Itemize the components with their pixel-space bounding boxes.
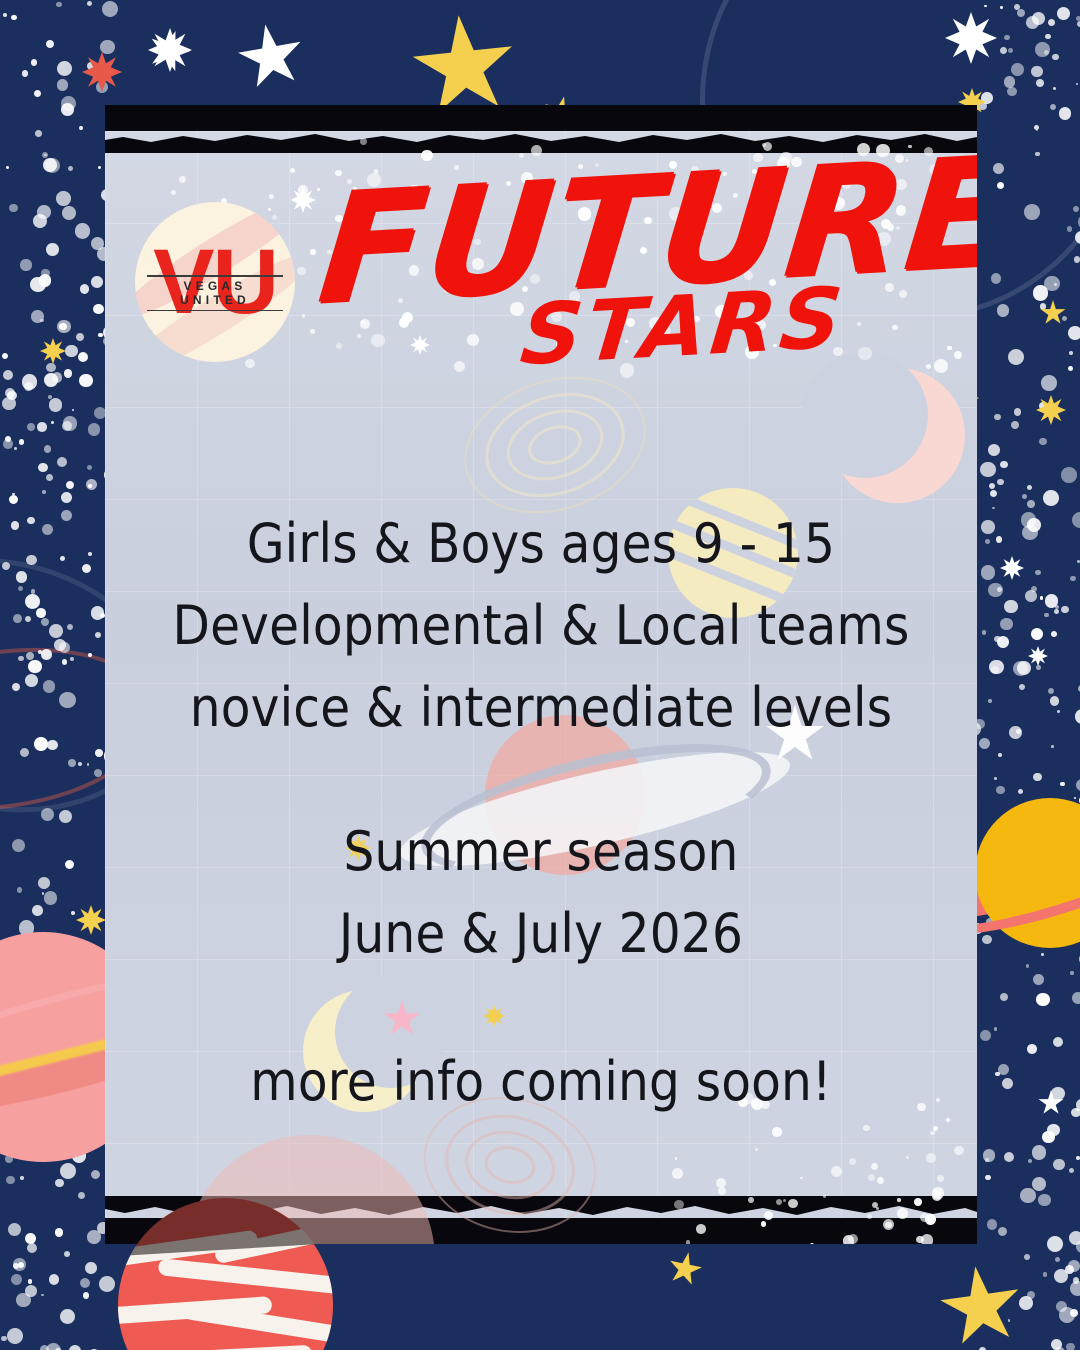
star-dot <box>66 481 74 489</box>
star-dot <box>41 1294 44 1297</box>
star-dot <box>997 636 1009 648</box>
star-dot <box>88 423 100 435</box>
star-dot <box>1027 485 1032 490</box>
star-dot <box>43 158 57 172</box>
star-dot <box>65 345 78 358</box>
star-dot <box>1039 438 1047 446</box>
star-dot <box>1062 316 1067 321</box>
star-dot <box>1036 665 1041 670</box>
detail-line: Summer season <box>105 811 977 893</box>
star-dot <box>1044 276 1059 291</box>
star-dot <box>1038 1194 1051 1207</box>
star-dot <box>83 1292 90 1299</box>
star-dot <box>88 552 92 556</box>
star-dot <box>32 905 43 916</box>
detail-block-season: Summer season June & July 2026 <box>105 811 977 975</box>
star-dot <box>987 1219 998 1230</box>
star-dot <box>1019 1296 1033 1310</box>
star-dot <box>95 749 103 757</box>
star-dot <box>980 462 996 478</box>
star-dot <box>988 583 1002 597</box>
star-dot <box>60 1309 75 1324</box>
star-dot <box>49 398 63 412</box>
star-dot <box>1017 661 1031 675</box>
star-dot <box>26 652 34 660</box>
star-dot <box>1 1336 7 1342</box>
star-dot <box>91 276 103 288</box>
star-dot <box>61 510 73 522</box>
star-dot <box>34 90 41 97</box>
star-dot <box>8 1223 21 1236</box>
poster-canvas: VU VEGAS UNITED FUTURE STARS Girls & Boy… <box>0 0 1080 1350</box>
star-dot <box>25 674 38 687</box>
star-dot <box>995 1072 1000 1077</box>
star-dot <box>1068 1260 1080 1272</box>
star-dot <box>1004 600 1018 614</box>
star-dot <box>44 891 58 905</box>
star-dot <box>9 204 17 212</box>
star-dot <box>28 1279 33 1284</box>
star-dot <box>102 1 118 17</box>
star-dot <box>1047 1236 1063 1252</box>
star-dot <box>1000 47 1007 54</box>
star-dot <box>1051 631 1057 637</box>
star-dot <box>1035 42 1050 57</box>
star-dot <box>64 1251 70 1257</box>
star-dot <box>7 391 17 401</box>
star-dot <box>982 630 987 635</box>
star-dot <box>1051 745 1054 748</box>
planet-red-striped-icon <box>118 1198 333 1350</box>
star-dot <box>1044 613 1049 618</box>
star-yellow-icon <box>76 905 106 935</box>
star-dot <box>12 839 25 852</box>
star-dot <box>1070 971 1074 975</box>
star-dot <box>1002 1078 1014 1090</box>
star-dot <box>994 1027 998 1031</box>
star-dot <box>980 1030 992 1042</box>
star-dot <box>1070 576 1076 582</box>
star-dot <box>18 586 23 591</box>
star-dot <box>1053 1159 1065 1171</box>
star-dot <box>78 352 89 363</box>
star-dot <box>979 738 990 749</box>
star-dot <box>57 457 67 467</box>
star-dot <box>1054 609 1059 614</box>
star-dot <box>59 810 72 823</box>
star-dot <box>46 243 59 256</box>
star-dot <box>983 1149 996 1162</box>
star-dot <box>1027 1044 1037 1054</box>
star-dot <box>51 421 55 425</box>
star-dot <box>42 524 53 535</box>
star-dot <box>1067 226 1073 232</box>
star-dot <box>1076 16 1080 21</box>
vegas-united-logo: VU VEGAS UNITED <box>135 202 295 362</box>
star-dot <box>1048 688 1054 694</box>
star-dot <box>36 608 45 617</box>
star-dot <box>46 363 56 373</box>
star-dot <box>1011 421 1019 429</box>
star-dot <box>997 479 1004 486</box>
star-dot <box>65 860 74 869</box>
star-dot <box>52 372 63 383</box>
star-dot <box>1073 1277 1080 1284</box>
star-dot <box>100 40 115 55</box>
star-dot <box>1000 618 1013 631</box>
star-dot <box>87 465 92 470</box>
star-dot <box>75 223 91 239</box>
star-dot <box>1043 1272 1048 1277</box>
star-dot <box>59 323 67 331</box>
star-dot <box>1070 1309 1078 1317</box>
star-dot <box>27 423 35 431</box>
star-dot <box>1066 1343 1075 1350</box>
star-dot <box>1017 9 1025 17</box>
star-dot <box>1036 79 1044 87</box>
star-dot <box>7 1328 23 1344</box>
star-dot <box>1026 964 1030 968</box>
star-dot <box>1055 1257 1060 1262</box>
star-dot <box>5 436 11 442</box>
star-dot <box>76 333 84 341</box>
star-dot <box>981 565 996 580</box>
star-dot <box>14 447 17 450</box>
star-dot <box>1025 590 1037 602</box>
star-dot <box>988 444 1000 456</box>
star-dot <box>78 1192 86 1200</box>
star-dot <box>1021 512 1037 528</box>
star-dot <box>71 911 75 915</box>
star-dot <box>79 126 83 130</box>
star-dot <box>55 1228 63 1236</box>
poster-details: Girls & Boys ages 9 - 15 Developmental &… <box>105 503 977 1123</box>
detail-block-cta: more info coming soon! <box>105 1041 977 1123</box>
star-dot <box>1020 1188 1035 1203</box>
star-dot <box>991 273 1001 283</box>
star-white-icon <box>148 28 192 72</box>
star-dot <box>996 786 1005 795</box>
star-dot <box>1042 1131 1054 1143</box>
star-dot <box>100 613 105 618</box>
star-dot <box>1076 1099 1080 1111</box>
star-dot <box>1075 709 1080 724</box>
star-dot <box>20 1176 24 1180</box>
star-dot <box>31 59 38 66</box>
star-dot <box>11 521 20 530</box>
star-dot <box>989 483 995 489</box>
star-dot <box>1060 782 1064 786</box>
star-dot <box>61 492 72 503</box>
star-dot <box>994 777 997 780</box>
star-dot <box>1031 628 1043 640</box>
star-dot <box>64 369 73 378</box>
star-dot <box>1059 107 1072 120</box>
star-dot <box>990 490 998 498</box>
star-white-icon <box>1028 646 1048 666</box>
star-dot <box>40 319 44 323</box>
star-dot <box>1024 204 1040 220</box>
star-dot <box>46 474 53 481</box>
star-dot <box>60 556 66 562</box>
star-dot <box>1008 349 1024 365</box>
star-dot <box>9 495 18 504</box>
star-yellow-icon <box>935 1261 1028 1350</box>
star-dot <box>1014 408 1021 415</box>
star-dot <box>3 13 7 17</box>
star-dot <box>17 887 23 893</box>
star-dot <box>998 753 1002 757</box>
star-dot <box>1008 1319 1011 1322</box>
star-dot <box>1036 993 1050 1007</box>
detail-line: June & July 2026 <box>105 893 977 975</box>
star-dot <box>26 555 36 565</box>
star-dot <box>55 1179 63 1187</box>
star-dot <box>27 517 35 525</box>
star-dot <box>1040 303 1046 309</box>
star-dot <box>1072 512 1080 528</box>
star-dot <box>27 1243 38 1254</box>
star-white-icon <box>1000 556 1024 580</box>
star-dot <box>25 594 40 609</box>
star-dot <box>59 692 75 708</box>
star-dot <box>1043 490 1059 506</box>
star-dot <box>99 1276 115 1292</box>
star-red-icon <box>82 52 122 92</box>
star-dot <box>12 683 20 691</box>
star-dot <box>57 61 72 76</box>
star-dot <box>985 539 990 544</box>
poster-card: VU VEGAS UNITED FUTURE STARS Girls & Boy… <box>105 105 977 1244</box>
star-dot <box>57 79 69 91</box>
star-dot <box>1053 1037 1063 1047</box>
star-dot <box>1072 992 1080 1004</box>
star-dot <box>1069 351 1074 356</box>
star-dot <box>1022 494 1027 499</box>
star-dot <box>61 96 76 111</box>
star-dot <box>2 353 8 359</box>
star-dot <box>16 571 27 582</box>
star-dot <box>1076 779 1080 791</box>
star-dot <box>1035 570 1041 576</box>
detail-line: novice & intermediate levels <box>105 667 977 749</box>
star-dot <box>992 507 995 510</box>
star-dot <box>37 422 47 432</box>
star-dot <box>49 1274 60 1285</box>
star-dot <box>41 808 54 821</box>
star-dot <box>1061 606 1068 613</box>
star-dot <box>996 536 1003 543</box>
star-dot <box>72 409 75 412</box>
star-dot <box>1054 1269 1068 1283</box>
star-dot <box>34 737 48 751</box>
star-dot <box>1032 1177 1046 1191</box>
star-dot <box>93 304 103 314</box>
star-dot <box>60 1163 76 1179</box>
star-dot <box>20 259 31 270</box>
star-dot <box>86 479 97 490</box>
star-dot <box>85 1262 97 1274</box>
star-dot <box>1061 467 1077 483</box>
star-dot <box>1035 152 1039 156</box>
star-dot <box>56 191 71 206</box>
logo-name-plate: VEGAS UNITED <box>147 275 283 311</box>
star-dot <box>1000 461 1008 469</box>
star-dot <box>1050 696 1059 705</box>
star-dot <box>1068 366 1073 371</box>
star-dot <box>6 1176 15 1185</box>
star-dot <box>1057 710 1060 713</box>
star-dot <box>1008 48 1013 53</box>
star-dot <box>1004 1152 1014 1162</box>
star-dot <box>1050 104 1056 110</box>
star-yellow-icon <box>665 1249 705 1289</box>
star-dot <box>43 680 56 693</box>
star-dot <box>1028 1159 1032 1163</box>
star-dot <box>11 15 16 20</box>
star-dot <box>56 2 61 7</box>
star-dot <box>1076 1156 1080 1160</box>
detail-line-cta: more info coming soon! <box>105 1041 977 1123</box>
star-dot <box>62 659 68 665</box>
star-dot <box>1027 500 1035 508</box>
star-dot <box>985 1175 991 1181</box>
star-dot <box>79 374 93 388</box>
star-dot <box>1033 974 1044 985</box>
star-dot <box>82 564 91 573</box>
star-dot <box>91 1170 100 1179</box>
star-dot <box>1032 1145 1046 1159</box>
star-dot <box>13 614 22 623</box>
detail-line: Developmental & Local teams <box>105 585 977 667</box>
star-dot <box>35 130 42 137</box>
star-dot <box>1041 953 1045 957</box>
star-dot <box>78 762 82 766</box>
star-dot <box>98 166 101 169</box>
star-dot <box>41 618 49 626</box>
star-dot <box>25 1285 37 1297</box>
star-dot <box>98 333 102 337</box>
star-dot <box>68 759 76 767</box>
detail-line: Girls & Boys ages 9 - 15 <box>105 503 977 585</box>
star-dot <box>1000 993 1008 1001</box>
star-dot <box>1074 256 1080 263</box>
star-dot <box>11 1274 22 1285</box>
star-dot <box>62 206 76 220</box>
poster-content: VU VEGAS UNITED FUTURE STARS Girls & Boy… <box>105 105 977 1244</box>
star-dot <box>46 40 54 48</box>
star-dot <box>998 1227 1007 1236</box>
star-dot <box>2 562 10 570</box>
logo-rule-bottom <box>147 310 283 312</box>
star-dot <box>38 877 50 889</box>
poster-title: FUTURE STARS <box>323 167 963 362</box>
star-dot <box>42 490 46 494</box>
star-dot <box>1040 596 1043 599</box>
star-dot <box>988 699 992 703</box>
star-dot <box>997 304 1009 316</box>
star-dot <box>62 421 72 431</box>
star-dot <box>6 166 10 170</box>
star-dot <box>1018 789 1023 794</box>
star-dot <box>31 589 36 594</box>
star-dot <box>981 520 995 534</box>
star-dot <box>3 370 13 380</box>
star-yellow-icon <box>40 338 66 364</box>
star-dot <box>1019 684 1025 690</box>
star-yellow-icon <box>1036 395 1066 425</box>
star-dot <box>69 1345 81 1350</box>
star-dot <box>1033 773 1041 781</box>
star-dot <box>22 70 29 77</box>
star-dot <box>41 649 52 660</box>
star-white-icon <box>233 19 309 95</box>
star-dot <box>37 205 51 219</box>
star-dot <box>44 445 51 452</box>
star-dot <box>982 935 992 945</box>
star-dot <box>1068 326 1080 340</box>
star-dot <box>28 660 42 674</box>
title-line-stars: STARS <box>518 274 969 374</box>
logo-brand-name: VEGAS UNITED <box>147 277 283 310</box>
star-dot <box>1045 34 1050 39</box>
star-dot <box>1045 594 1058 607</box>
star-dot <box>80 284 90 294</box>
star-dot <box>1069 1168 1074 1173</box>
star-dot <box>1053 87 1056 90</box>
star-dot <box>87 1 92 6</box>
star-dot <box>1024 1254 1030 1260</box>
star-dot <box>994 414 1001 421</box>
star-dot <box>1009 726 1022 739</box>
star-dot <box>1041 375 1057 391</box>
star-dot <box>19 439 24 444</box>
star-dot <box>1007 87 1017 97</box>
star-dot <box>68 166 73 171</box>
star-dot <box>1074 797 1076 799</box>
star-dot <box>80 1278 91 1289</box>
star-dot <box>54 639 66 651</box>
star-dot <box>38 463 48 473</box>
